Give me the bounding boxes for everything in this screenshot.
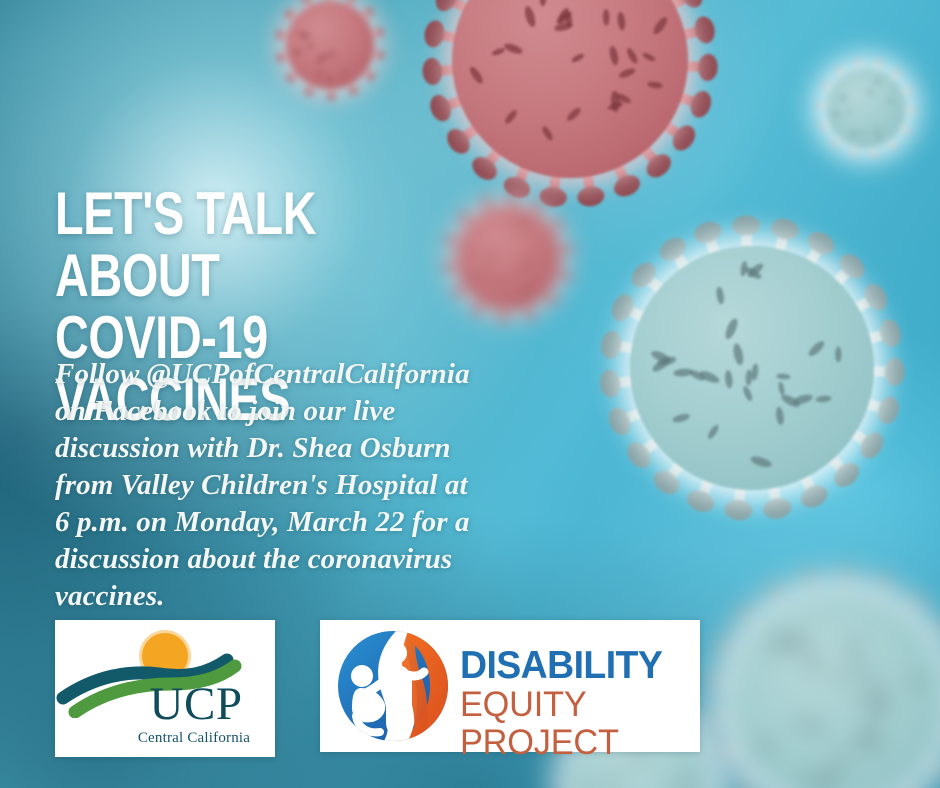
dep-emblem-icon bbox=[334, 628, 452, 744]
coronavirus-particle bbox=[630, 246, 874, 490]
coronavirus-particle bbox=[826, 68, 906, 148]
ucp-subtitle: Central California bbox=[55, 730, 275, 747]
coronavirus-particle bbox=[730, 592, 940, 788]
virus-surface-specks bbox=[286, 1, 374, 89]
virus-surface-specks bbox=[456, 206, 560, 310]
dep-line1: DISABILITY bbox=[460, 646, 687, 686]
dep-wordmark: DISABILITY EQUITY PROJECT bbox=[460, 646, 696, 762]
virus-surface-specks bbox=[630, 246, 874, 490]
ucp-wordmark: UCP bbox=[55, 680, 275, 728]
coronavirus-particle bbox=[286, 1, 374, 89]
dep-line2: EQUITY PROJECT bbox=[460, 686, 691, 762]
coronavirus-particle bbox=[452, 0, 688, 178]
disability-equity-project-logo: DISABILITY EQUITY PROJECT bbox=[320, 620, 700, 752]
poster-canvas: LET'S TALK ABOUT COVID-19 VACCINES Follo… bbox=[0, 0, 940, 788]
event-description: Follow @UCPofCentralCalifornia on Facebo… bbox=[55, 356, 555, 615]
ucp-logo: UCP Central California bbox=[55, 620, 275, 757]
coronavirus-particle bbox=[456, 206, 560, 310]
virus-surface-specks bbox=[826, 68, 906, 148]
